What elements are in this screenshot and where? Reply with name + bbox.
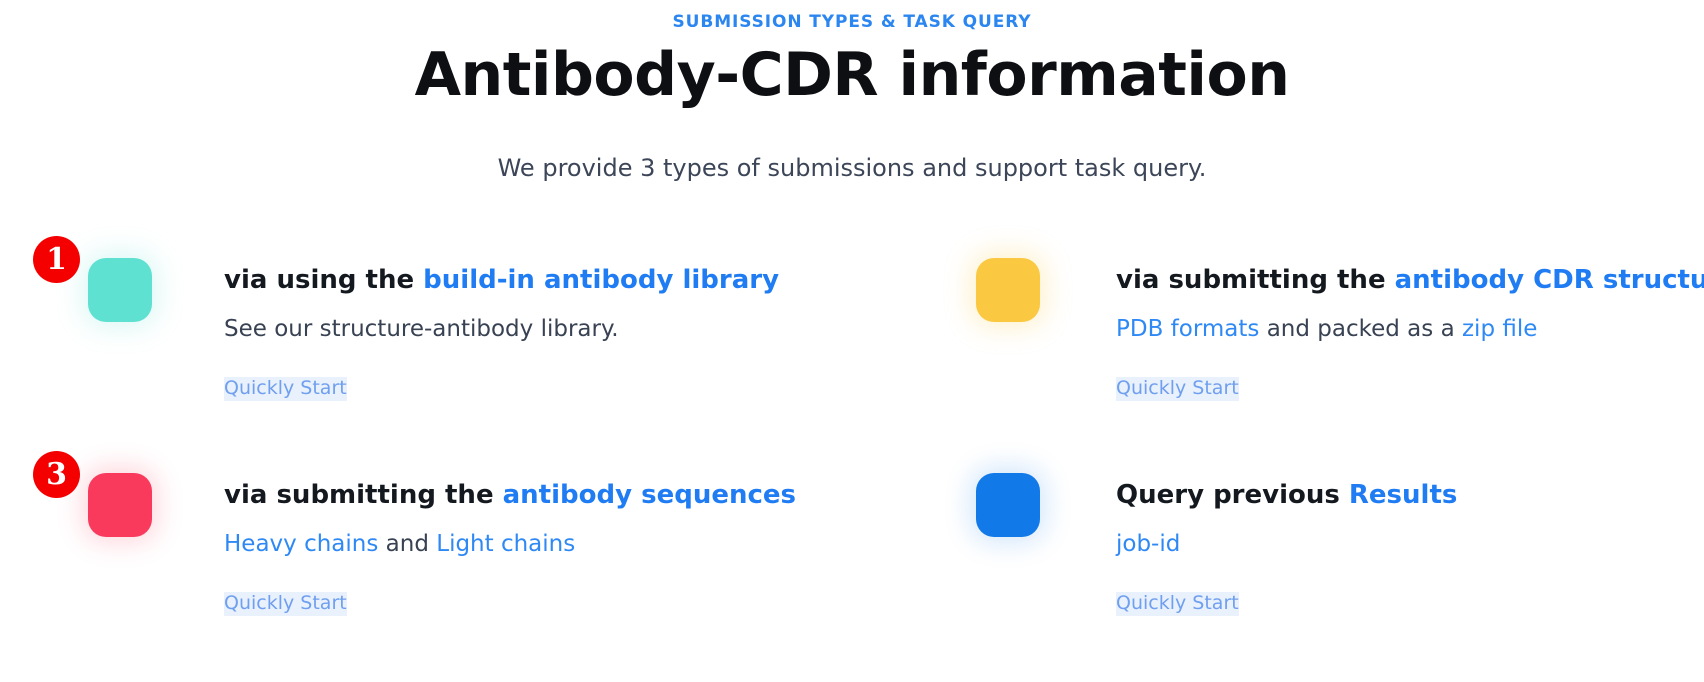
card-badge-3: 3 — [33, 451, 80, 498]
card-desc-3: Heavy chains and Light chains — [224, 530, 796, 560]
card-body-2: via submitting the antibody CDR structur… — [1116, 236, 1704, 400]
swatch-blue-icon — [976, 473, 1040, 537]
card-body-1: via using the build-in antibody library … — [224, 236, 779, 400]
card-title-highlight-1[interactable]: build-in antibody library — [423, 265, 779, 295]
submission-card-3[interactable]: 3 via submitting the antibody sequences … — [0, 451, 880, 666]
card-title-1: via using the build-in antibody library — [224, 264, 779, 297]
card-body-3: via submitting the antibody sequences He… — [224, 451, 796, 615]
submission-card-1[interactable]: 1 via using the build-in antibody librar… — [0, 236, 880, 451]
page-subtitle: We provide 3 types of submissions and su… — [0, 153, 1704, 184]
page-root: SUBMISSION TYPES & TASK QUERY Antibody-C… — [0, 0, 1704, 682]
card-swatch-wrap-2 — [976, 258, 1040, 322]
card-swatch-wrap-3 — [88, 473, 152, 537]
quickly-start-link-2[interactable]: Quickly Start — [1116, 377, 1239, 401]
card-desc-link-light-chains[interactable]: Light chains — [436, 531, 575, 557]
card-desc-link-zip-file[interactable]: zip file — [1462, 316, 1537, 342]
card-desc-part-2-1: and packed as a — [1259, 316, 1462, 342]
quickly-start-link-4[interactable]: Quickly Start — [1116, 592, 1239, 616]
card-title-4: Query previous Results — [1116, 479, 1457, 512]
card-desc-part-3-1: and — [378, 531, 436, 557]
card-title-2: via submitting the antibody CDR structur… — [1116, 264, 1704, 297]
submission-card-4[interactable]: Query previous Results job-id Quickly St… — [880, 451, 1704, 666]
card-body-4: Query previous Results job-id Quickly St… — [1116, 451, 1457, 615]
card-title-highlight-4[interactable]: Results — [1349, 480, 1457, 510]
page-header: SUBMISSION TYPES & TASK QUERY Antibody-C… — [0, 0, 1704, 184]
card-desc-link-job-id[interactable]: job-id — [1116, 531, 1180, 557]
card-desc-link-pdb-formats[interactable]: PDB formats — [1116, 316, 1259, 342]
card-title-plain-4: Query previous — [1116, 480, 1349, 510]
swatch-teal-icon — [88, 258, 152, 322]
card-title-plain-1: via using the — [224, 265, 423, 295]
card-desc-1: See our structure-antibody library. — [224, 315, 779, 345]
card-title-highlight-3[interactable]: antibody sequences — [503, 480, 796, 510]
card-title-plain-2: via submitting the — [1116, 265, 1395, 295]
card-desc-part-1-0: See our structure-antibody library. — [224, 316, 619, 342]
page-title: Antibody-CDR information — [0, 40, 1704, 111]
card-badge-1: 1 — [33, 236, 80, 283]
card-title-highlight-2[interactable]: antibody CDR structures — [1395, 265, 1704, 295]
swatch-yellow-icon — [976, 258, 1040, 322]
page-eyebrow: SUBMISSION TYPES & TASK QUERY — [0, 12, 1704, 32]
quickly-start-link-1[interactable]: Quickly Start — [224, 377, 347, 401]
card-swatch-wrap-4 — [976, 473, 1040, 537]
swatch-pink-icon — [88, 473, 152, 537]
card-desc-4: job-id — [1116, 530, 1457, 560]
card-title-plain-3: via submitting the — [224, 480, 503, 510]
card-swatch-wrap-1 — [88, 258, 152, 322]
card-title-3: via submitting the antibody sequences — [224, 479, 796, 512]
quickly-start-link-3[interactable]: Quickly Start — [224, 592, 347, 616]
card-desc-link-heavy-chains[interactable]: Heavy chains — [224, 531, 378, 557]
card-desc-2: PDB formats and packed as a zip file — [1116, 315, 1704, 345]
submission-card-2[interactable]: 2 via submitting the antibody CDR struct… — [880, 236, 1704, 451]
submission-cards-grid: 1 via using the build-in antibody librar… — [0, 236, 1704, 666]
